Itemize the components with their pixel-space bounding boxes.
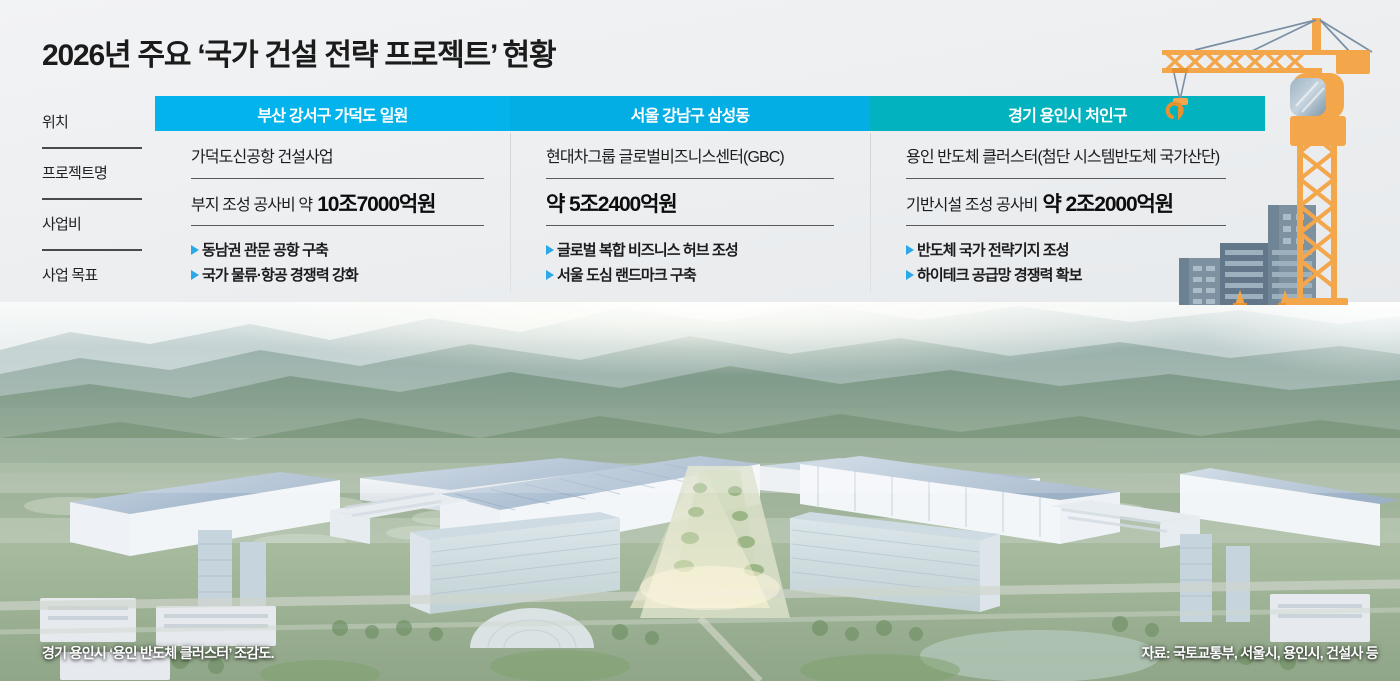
row-label-text: 프로젝트명 <box>42 162 107 183</box>
goals-list: 반도체 국가 전략기지 조성 하이테크 공급망 경쟁력 확보 <box>906 237 1082 285</box>
project-name-cell: 용인 반도체 클러스터(첨단 시스템반도체 국가산단) <box>906 131 1265 179</box>
infographic-page: 2026년 주요 ‘국가 건설 전략 프로젝트’ 현황 위치 프로젝트명 사업비… <box>0 0 1400 681</box>
location-header-seoul: 서울 강남구 삼성동 <box>510 96 870 131</box>
goal-text: 국가 물류·항공 경쟁력 강화 <box>202 264 358 285</box>
goal-item: 국가 물류·항공 경쟁력 강화 <box>191 264 358 285</box>
arrow-bullet-icon <box>906 245 914 255</box>
budget-amount: 10조7000억원 <box>317 188 435 218</box>
goal-item: 글로벌 복합 비즈니스 허브 조성 <box>546 239 738 260</box>
goal-item: 하이테크 공급망 경쟁력 확보 <box>906 264 1082 285</box>
goal-text: 하이테크 공급망 경쟁력 확보 <box>917 264 1082 285</box>
row-label-text: 사업 목표 <box>42 264 97 285</box>
project-columns: 가덕도신공항 건설사업 부지 조성 공사비 약 10조7000억원 동남권 관문… <box>155 131 1265 296</box>
goals-cell: 동남권 관문 공항 구축 국가 물류·항공 경쟁력 강화 <box>191 226 510 296</box>
page-title: 2026년 주요 ‘국가 건설 전략 프로젝트’ 현황 <box>42 30 555 74</box>
goal-item: 동남권 관문 공항 구축 <box>191 239 358 260</box>
row-label-goals: 사업 목표 <box>42 249 154 300</box>
goals-list: 글로벌 복합 비즈니스 허브 조성 서울 도심 랜드마크 구축 <box>546 237 738 285</box>
project-name-text: 용인 반도체 클러스터(첨단 시스템반도체 국가산단) <box>906 143 1219 167</box>
photo-caption: 경기 용인시 ‘용인 반도체 클러스터’ 조감도. <box>42 643 274 663</box>
budget-amount: 약 2조2000억원 <box>1042 188 1173 218</box>
arrow-bullet-icon <box>546 245 554 255</box>
goal-text: 동남권 관문 공항 구축 <box>202 239 328 260</box>
location-header-bar: 부산 강서구 가덕도 일원 서울 강남구 삼성동 경기 용인시 처인구 <box>155 96 1265 131</box>
project-name-text: 현대차그룹 글로벌비즈니스센터(GBC) <box>546 143 784 167</box>
row-label-project-name: 프로젝트명 <box>42 147 154 198</box>
row-label-text: 사업비 <box>42 213 81 234</box>
aerial-rendering-photo <box>0 288 1400 681</box>
arrow-bullet-icon <box>191 270 199 280</box>
goal-item: 서울 도심 랜드마크 구축 <box>546 264 738 285</box>
row-label-column: 위치 프로젝트명 사업비 사업 목표 <box>42 96 154 300</box>
goal-text: 서울 도심 랜드마크 구축 <box>557 264 696 285</box>
project-name-text: 가덕도신공항 건설사업 <box>191 143 333 167</box>
goal-text: 반도체 국가 전략기지 조성 <box>917 239 1069 260</box>
label-rule <box>42 147 142 149</box>
budget-cell: 약 5조2400억원 <box>546 179 870 226</box>
project-name-cell: 가덕도신공항 건설사업 <box>191 131 510 179</box>
row-label-location: 위치 <box>42 96 154 147</box>
photo-svg <box>0 288 1400 681</box>
project-name-cell: 현대차그룹 글로벌비즈니스센터(GBC) <box>546 131 870 179</box>
table-panel: 2026년 주요 ‘국가 건설 전략 프로젝트’ 현황 위치 프로젝트명 사업비… <box>0 0 1400 302</box>
budget-prefix: 기반시설 조성 공사비 <box>906 191 1037 215</box>
budget-prefix: 부지 조성 공사비 약 <box>191 191 312 215</box>
row-label-budget: 사업비 <box>42 198 154 249</box>
goals-list: 동남권 관문 공항 구축 국가 물류·항공 경쟁력 강화 <box>191 237 358 285</box>
budget-cell: 기반시설 조성 공사비 약 2조2000억원 <box>906 179 1265 226</box>
arrow-bullet-icon <box>191 245 199 255</box>
goal-text: 글로벌 복합 비즈니스 허브 조성 <box>557 239 738 260</box>
arrow-bullet-icon <box>906 270 914 280</box>
budget-cell: 부지 조성 공사비 약 10조7000억원 <box>191 179 510 226</box>
location-header-busan: 부산 강서구 가덕도 일원 <box>155 96 510 131</box>
goals-cell: 반도체 국가 전략기지 조성 하이테크 공급망 경쟁력 확보 <box>906 226 1265 296</box>
project-column-seoul: 현대차그룹 글로벌비즈니스센터(GBC) 약 5조2400억원 글로벌 복합 비… <box>510 131 870 296</box>
goals-cell: 글로벌 복합 비즈니스 허브 조성 서울 도심 랜드마크 구축 <box>546 226 870 296</box>
location-header-yongin: 경기 용인시 처인구 <box>870 96 1265 131</box>
budget-prefix-amount: 약 5조2400억원 <box>546 188 677 218</box>
project-column-busan: 가덕도신공항 건설사업 부지 조성 공사비 약 10조7000억원 동남권 관문… <box>155 131 510 296</box>
row-label-text: 위치 <box>42 111 68 132</box>
arrow-bullet-icon <box>546 270 554 280</box>
project-column-yongin: 용인 반도체 클러스터(첨단 시스템반도체 국가산단) 기반시설 조성 공사비 … <box>870 131 1265 296</box>
label-rule <box>42 198 142 200</box>
photo-source: 자료: 국토교통부, 서울시, 용인시, 건설사 등 <box>1141 643 1378 663</box>
goal-item: 반도체 국가 전략기지 조성 <box>906 239 1082 260</box>
label-rule <box>42 249 142 251</box>
